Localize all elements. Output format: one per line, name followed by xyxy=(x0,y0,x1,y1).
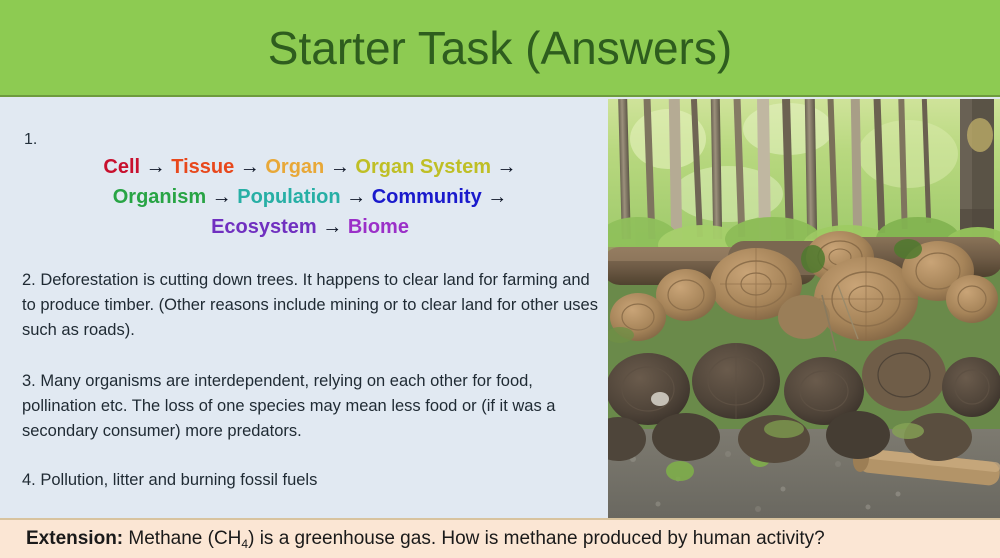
hierarchy-arrow-icon: → xyxy=(341,186,372,208)
photo-illustration xyxy=(608,99,1000,518)
hierarchy-arrow-icon: → xyxy=(491,156,517,178)
extension-label: Extension: xyxy=(26,528,123,549)
hierarchy-term-organ: Organ xyxy=(265,156,324,178)
answer-item-4: 4. Pollution, litter and burning fossil … xyxy=(22,468,600,493)
hierarchy-term-population: Population xyxy=(237,186,340,208)
hierarchy-term-biome: Biome xyxy=(348,216,409,238)
organisation-hierarchy-chain: Cell → Tissue → Organ → Organ System → O… xyxy=(40,152,580,242)
answer-item-2: 2. Deforestation is cutting down trees. … xyxy=(22,268,600,343)
hierarchy-arrow-icon: → xyxy=(324,156,355,178)
forest-log-pile-photo xyxy=(608,99,1000,518)
hierarchy-arrow-icon: → xyxy=(317,216,348,238)
extension-bar: Extension: Methane (CH4) is a greenhouse… xyxy=(0,518,1000,558)
hierarchy-arrow-icon: → xyxy=(234,156,265,178)
page-title: Starter Task (Answers) xyxy=(268,21,732,75)
slide: Starter Task (Answers) 1. Cell → Tissue … xyxy=(0,0,1000,558)
hierarchy-term-ecosystem: Ecosystem xyxy=(211,216,317,238)
title-banner: Starter Task (Answers) xyxy=(0,0,1000,97)
hierarchy-term-organ-system: Organ System xyxy=(355,156,491,178)
hierarchy-term-tissue: Tissue xyxy=(171,156,234,178)
hierarchy-term-organism: Organism xyxy=(113,186,206,208)
hierarchy-arrow-icon: → xyxy=(206,186,237,208)
hierarchy-term-cell: Cell xyxy=(103,156,140,178)
methane-subscript: 4 xyxy=(241,537,248,551)
extension-before: Methane (CH xyxy=(123,528,241,549)
extension-after: ) is a greenhouse gas. How is methane pr… xyxy=(248,528,825,549)
hierarchy-arrow-icon: → xyxy=(482,186,508,208)
answer-item-3: 3. Many organisms are interdependent, re… xyxy=(22,369,600,444)
question-1-number: 1. xyxy=(24,131,37,149)
extension-text: Extension: Methane (CH4) is a greenhouse… xyxy=(0,528,825,550)
hierarchy-arrow-icon: → xyxy=(140,156,171,178)
hierarchy-term-community: Community xyxy=(372,186,482,208)
